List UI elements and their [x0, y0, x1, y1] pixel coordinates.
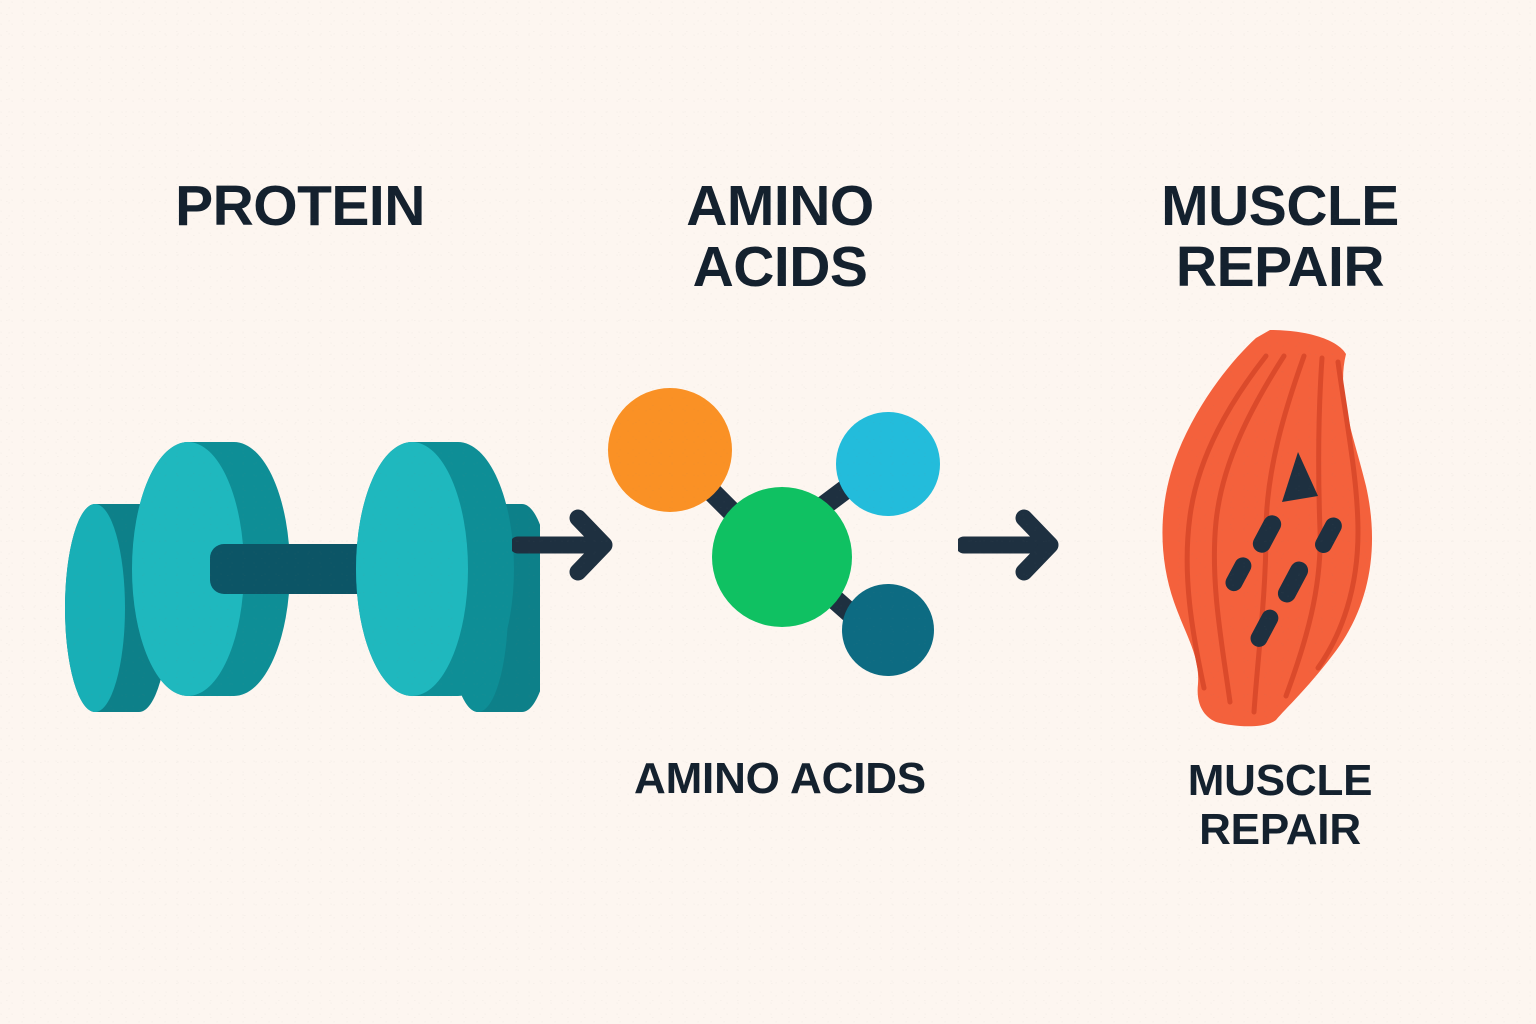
step-amino-acids-heading: AMINO ACIDS: [686, 176, 873, 298]
step-muscle-repair-caption: MUSCLE REPAIR: [1070, 756, 1490, 855]
step-amino-acids: AMINO ACIDS AMINO ACIDS: [570, 176, 990, 298]
step-amino-acids-caption: AMINO ACIDS: [570, 754, 990, 803]
molecule-node-green: [712, 487, 852, 627]
molecule-node-orange: [608, 388, 732, 512]
step-protein-heading: PROTEIN: [175, 176, 425, 237]
step-protein: PROTEIN: [60, 176, 540, 237]
molecule-node-cyan: [836, 412, 940, 516]
arrow-amino-to-muscle-icon: [958, 508, 1068, 582]
infographic-canvas: PROTEIN: [0, 0, 1536, 1024]
step-muscle-repair: MUSCLE REPAIR: [1070, 176, 1490, 298]
molecule-node-teal: [842, 584, 934, 676]
dumbbell-icon: [60, 412, 540, 712]
molecule-icon: [570, 372, 990, 692]
muscle-icon: [1070, 316, 1490, 736]
step-muscle-repair-heading: MUSCLE REPAIR: [1161, 176, 1399, 298]
